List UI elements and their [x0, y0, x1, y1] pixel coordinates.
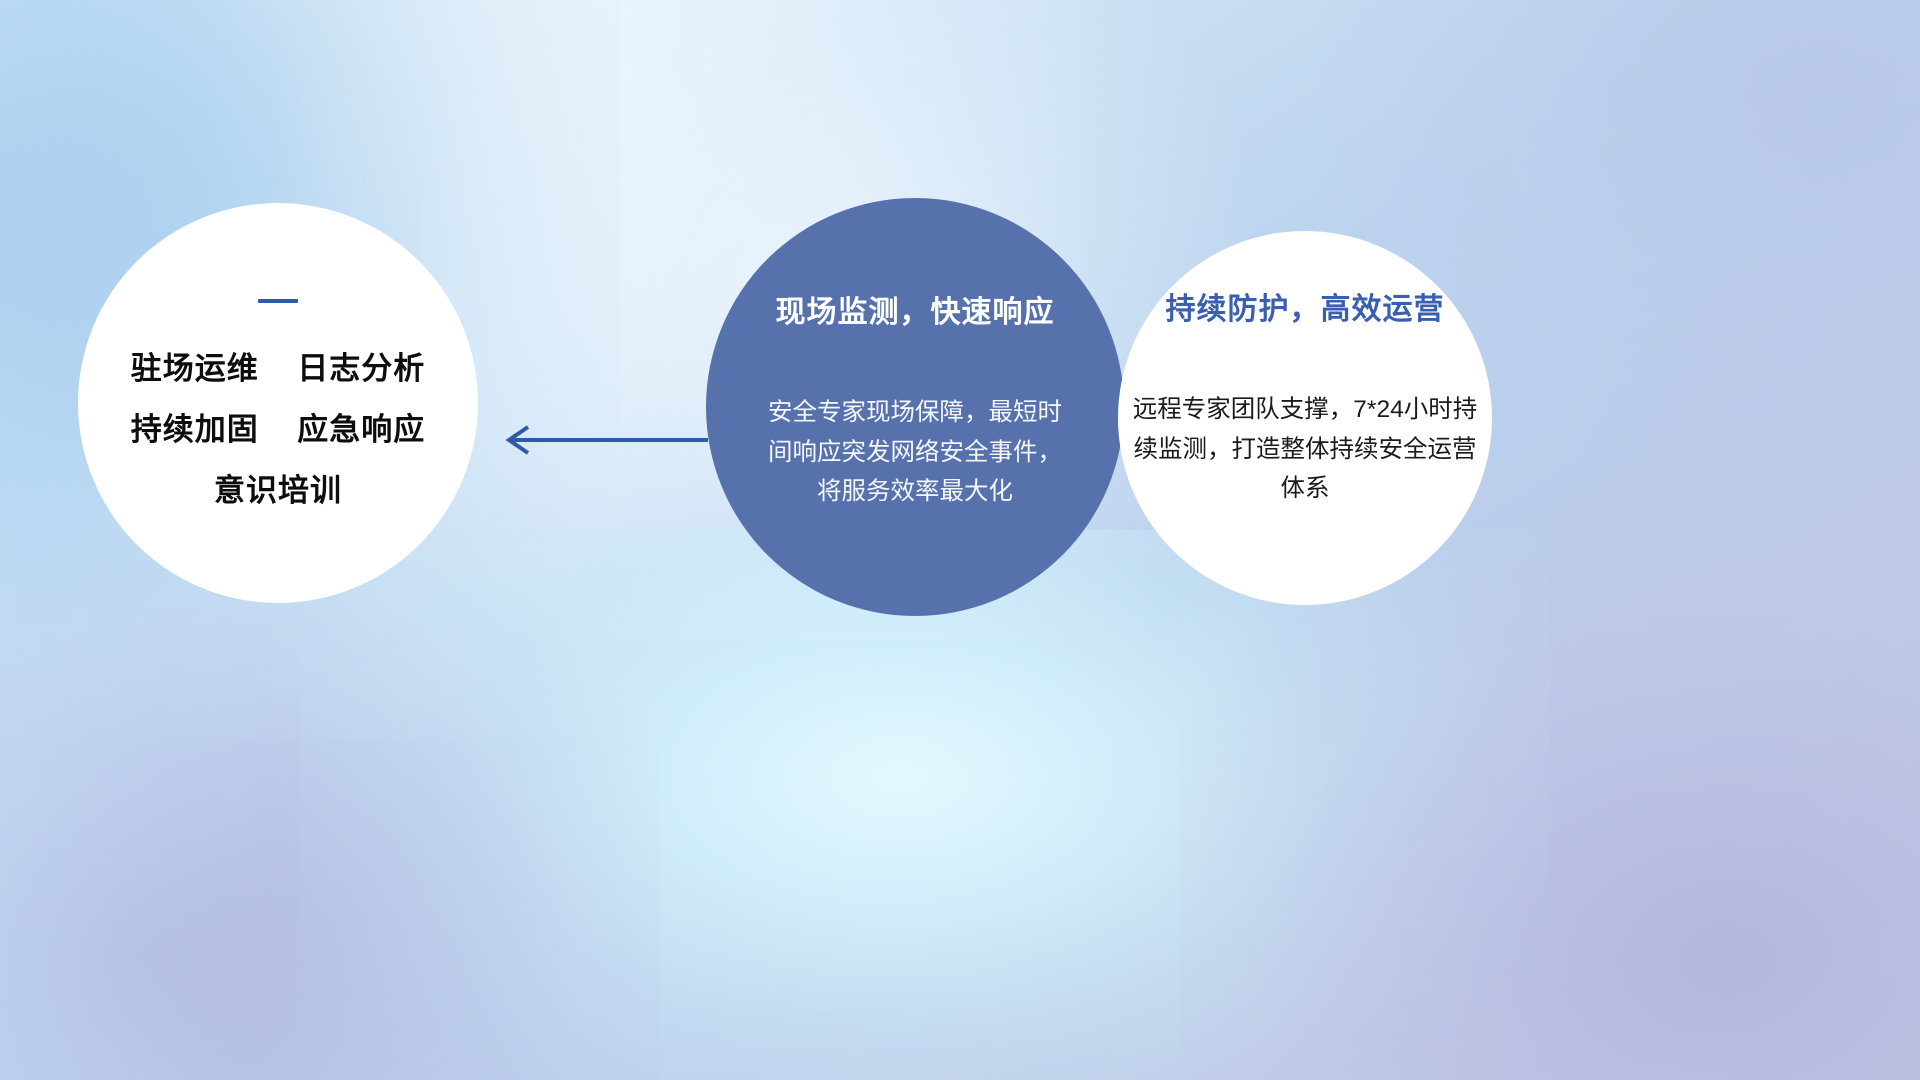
- left-service-line-2: 持续加固 应急响应: [131, 414, 425, 445]
- slide-canvas: 驻场运维 日志分析 持续加固 应急响应 意识培训 现场监测，快速响应 安全专家现…: [0, 0, 1920, 1080]
- left-circle-content: 驻场运维 日志分析 持续加固 应急响应 意识培训: [78, 203, 478, 603]
- middle-circle-content: 现场监测，快速响应 安全专家现场保障，最短时间响应突发网络安全事件，将服务效率最…: [706, 198, 1124, 616]
- right-circle-body: 远程专家团队支撑，7*24小时持续监测，打造整体持续安全运营体系: [1124, 390, 1486, 509]
- dash-divider-icon: [258, 299, 298, 303]
- arrow-left-icon: [490, 418, 710, 462]
- left-service-line-1: 驻场运维 日志分析: [131, 353, 425, 384]
- right-circle-content: 持续防护，高效运营 远程专家团队支撑，7*24小时持续监测，打造整体持续安全运营…: [1118, 231, 1492, 605]
- middle-circle-title: 现场监测，快速响应: [776, 296, 1055, 329]
- background-violet-glow-right: [1180, 560, 1920, 1080]
- left-service-line-3: 意识培训: [214, 475, 342, 506]
- middle-circle-body: 安全专家现场保障，最短时间响应突发网络安全事件，将服务效率最大化: [765, 393, 1065, 512]
- right-circle-title: 持续防护，高效运营: [1166, 293, 1445, 326]
